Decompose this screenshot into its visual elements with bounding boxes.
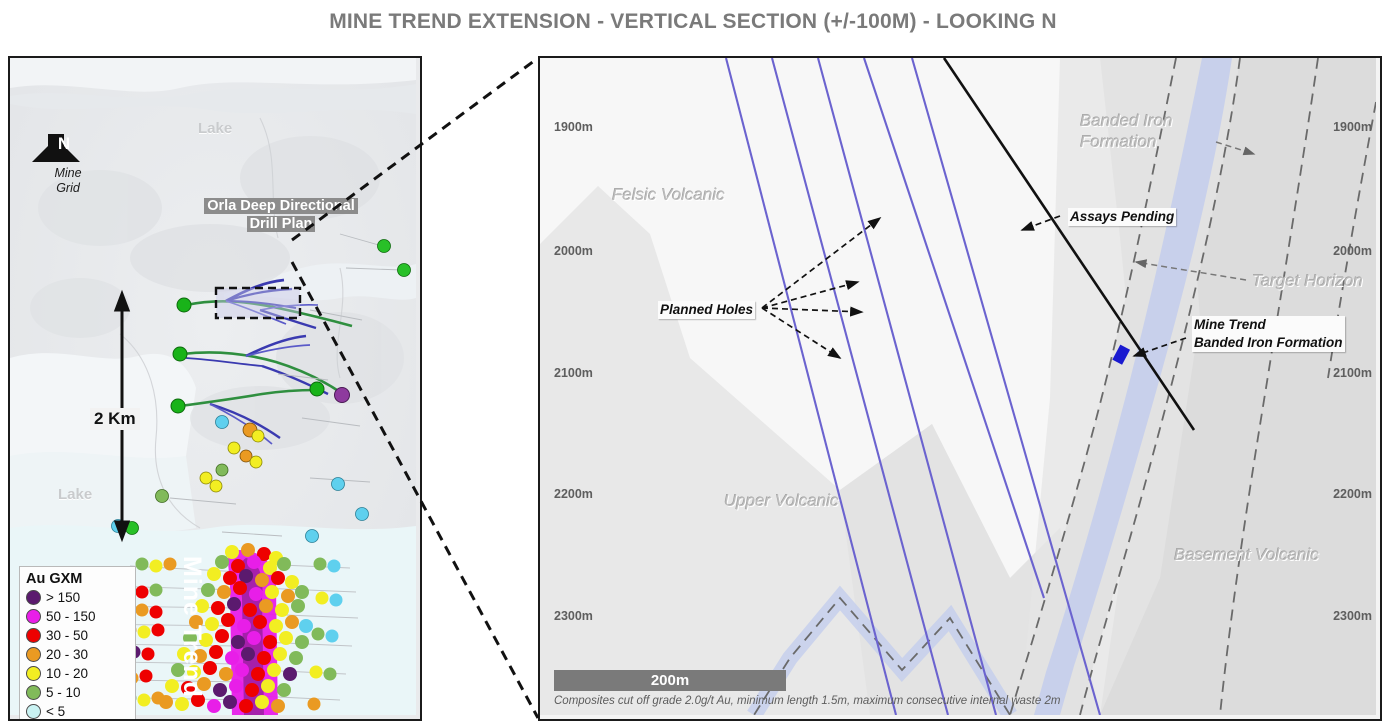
north-caption-line2: Grid (41, 181, 95, 196)
legend-item-label: > 150 (46, 590, 80, 605)
legend-item: 30 - 50 (26, 626, 130, 645)
legend-item: 5 - 10 (26, 683, 130, 702)
legend-item: 50 - 150 (26, 607, 130, 626)
legend-item: < 5 (26, 702, 130, 721)
north-arrow-caption: Mine Grid (41, 166, 95, 196)
drill-plan-title-line1: Orla Deep Directional (204, 198, 357, 214)
callout-planned-holes: Planned Holes (658, 301, 755, 319)
legend-item: 20 - 30 (26, 645, 130, 664)
legend-swatch-icon (26, 685, 41, 700)
legend-item-label: 5 - 10 (46, 685, 81, 700)
legend-swatch-icon (26, 647, 41, 662)
legend-item-label: 50 - 150 (46, 609, 96, 624)
vertical-section-panel: 1900m 2000m 2100m 2200m 2300m 1900m 2000… (538, 56, 1382, 721)
mine-trend-bif-line1: Mine Trend (1194, 316, 1343, 334)
drill-plan-title-line2: Drill Plan (247, 216, 316, 232)
north-arrow-letter: N (51, 134, 77, 154)
drill-plan-title: Orla Deep Directional Drill Plan (186, 198, 376, 233)
figure-root: MINE TREND EXTENSION - VERTICAL SECTION … (0, 0, 1386, 723)
legend-item-label: < 5 (46, 704, 65, 719)
legend-swatch-icon (26, 590, 41, 605)
callout-assays-pending: Assays Pending (1068, 208, 1176, 226)
legend-swatch-icon (26, 628, 41, 643)
legend-item: > 150 (26, 588, 130, 607)
legend-swatch-icon (26, 666, 41, 681)
legend-item-label: 30 - 50 (46, 628, 88, 643)
scale-annotation-2km: 2 Km (90, 408, 140, 430)
legend-item: 10 - 20 (26, 664, 130, 683)
scale-bar-200m: 200m (554, 670, 786, 691)
mine-trend-bif-line2: Banded Iron Formation (1194, 334, 1343, 352)
north-caption-line1: Mine (41, 166, 95, 181)
callout-mine-trend-bif: Mine Trend Banded Iron Formation (1192, 316, 1345, 352)
zoom-inset-box (216, 288, 300, 318)
legend-title: Au GXM (26, 571, 130, 587)
legend-au-gxm: Au GXM > 150 50 - 150 30 - 50 20 - 30 10… (19, 566, 136, 721)
plan-map-panel: Lake Lake Mine Grid N Orla Deep Directio… (8, 56, 422, 721)
page-title: MINE TREND EXTENSION - VERTICAL SECTION … (0, 10, 1386, 34)
legend-item-label: 20 - 30 (46, 647, 88, 662)
vertical-section-graphic (540, 58, 1376, 715)
legend-item-label: 10 - 20 (46, 666, 88, 681)
section-footnote: Composites cut off grade 2.0g/t Au, mini… (554, 695, 1060, 707)
legend-swatch-icon (26, 704, 41, 719)
legend-swatch-icon (26, 609, 41, 624)
